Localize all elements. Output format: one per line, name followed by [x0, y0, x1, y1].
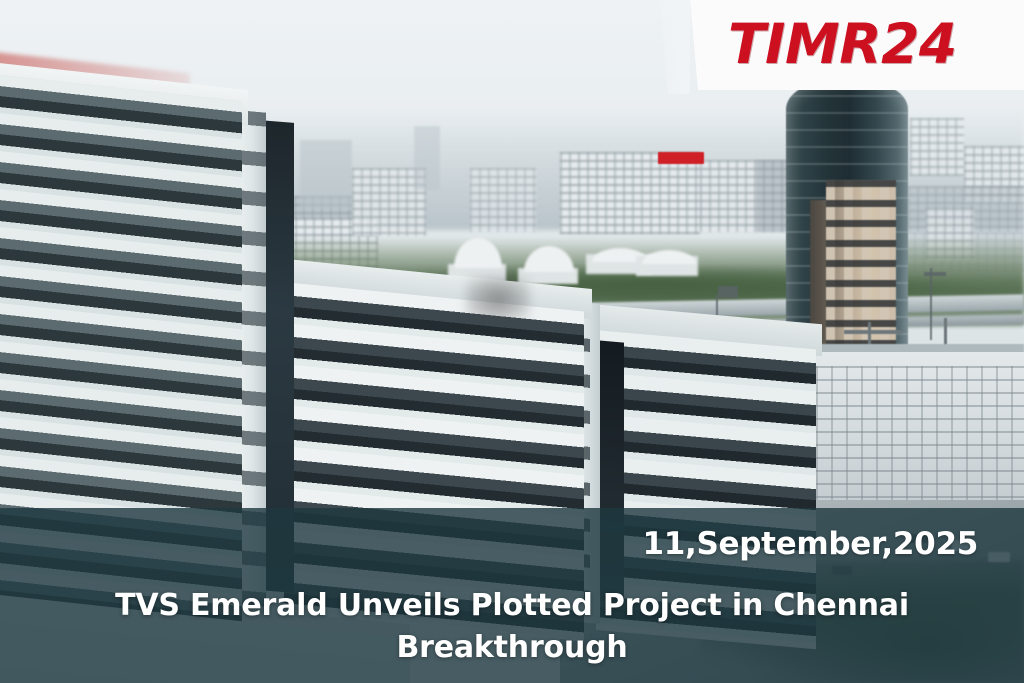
distant-building-block [560, 152, 700, 234]
distant-building-block [470, 168, 536, 232]
white-low-building [786, 352, 1024, 512]
publish-date: 11,September,2025 [642, 526, 978, 562]
distant-building-block [910, 118, 964, 176]
utility-pole [924, 272, 946, 276]
window-grid [786, 366, 1024, 512]
window-grid [560, 152, 700, 234]
image-smudge-artifact [466, 276, 530, 322]
distant-building-block [300, 140, 352, 210]
featured-image-poster: TIMR24 11,September,2025 TVS Emerald Unv… [0, 0, 1024, 683]
window-grid [910, 118, 964, 176]
article-headline: TVS Emerald Unveils Plotted Project in C… [0, 585, 1024, 669]
red-billboard-sign [658, 152, 704, 164]
brand-logo[interactable]: TIMR24 [728, 12, 957, 76]
distant-building-block [414, 126, 440, 190]
window-grid [470, 168, 536, 232]
utility-pole [718, 286, 738, 298]
rooftop-antenna [844, 330, 902, 334]
utility-pole [930, 268, 932, 340]
